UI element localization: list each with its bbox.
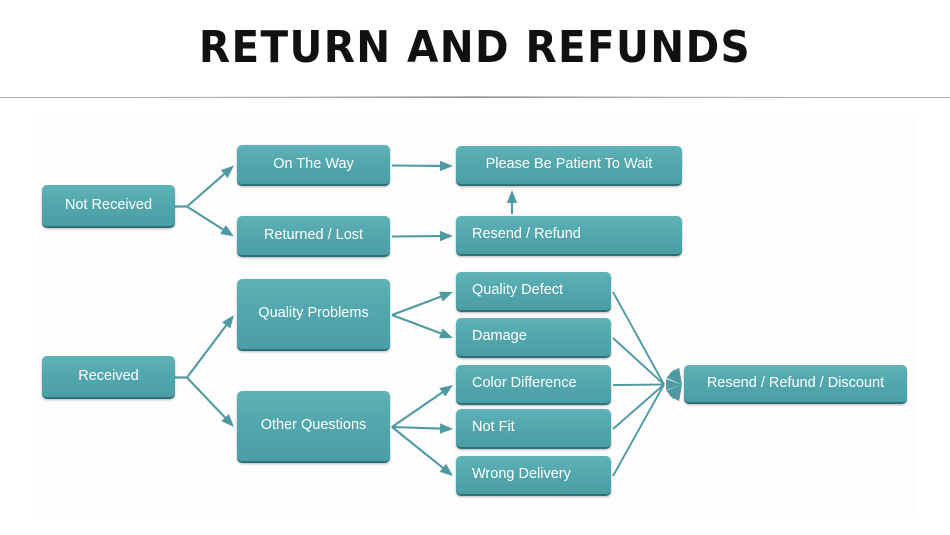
edge-quality_defect-to-resend_refund_discount-line xyxy=(613,292,664,385)
edge-not_fit-to-resend_refund_discount-line xyxy=(613,385,664,430)
node-label: Color Difference xyxy=(472,376,577,392)
header-band: RETURN AND REFUNDS xyxy=(0,0,950,98)
node-color_diff[interactable]: Color Difference xyxy=(456,365,611,405)
edge-other_questions-to-color_diff-arrowhead xyxy=(439,385,453,397)
node-returned_lost[interactable]: Returned / Lost xyxy=(237,216,390,257)
node-damage[interactable]: Damage xyxy=(456,318,611,358)
node-label: Not Fit xyxy=(472,420,515,436)
node-wrong_delivery[interactable]: Wrong Delivery xyxy=(456,456,611,496)
node-label: Resend / Refund / Discount xyxy=(707,376,884,392)
edge-other_questions-to-not_fit-line xyxy=(392,427,440,429)
edge-quality_probs-to-damage-arrowhead xyxy=(439,329,453,339)
flowchart-canvas: Not ReceivedOn The WayReturned / LostPle… xyxy=(0,98,950,535)
node-label: Other Questions xyxy=(261,418,367,434)
node-quality_defect[interactable]: Quality Defect xyxy=(456,272,611,312)
node-other_questions[interactable]: Other Questions xyxy=(237,391,390,463)
node-label: Resend / Refund xyxy=(472,227,581,243)
edge-other_questions-to-not_fit-arrowhead xyxy=(440,423,453,433)
edge-resend_refund-to-be_patient-arrowhead xyxy=(507,190,517,203)
edge-wrong_delivery-to-resend_refund_discount-line xyxy=(613,385,664,477)
edge-received-to-quality_probs-line xyxy=(187,325,226,377)
node-quality_probs[interactable]: Quality Problems xyxy=(237,279,390,351)
node-on_the_way[interactable]: On The Way xyxy=(237,145,390,186)
edge-damage-to-resend_refund_discount-line xyxy=(613,338,664,385)
node-label: Returned / Lost xyxy=(264,228,363,244)
node-label: Not Received xyxy=(65,198,152,214)
node-label: Quality Defect xyxy=(472,283,563,299)
node-not_fit[interactable]: Not Fit xyxy=(456,409,611,449)
node-received[interactable]: Received xyxy=(42,356,175,399)
node-label: On The Way xyxy=(273,157,354,173)
node-not_received[interactable]: Not Received xyxy=(42,185,175,228)
edge-other_questions-to-color_diff-line xyxy=(392,392,442,427)
edge-quality_probs-to-damage-line xyxy=(392,315,441,333)
node-label: Please Be Patient To Wait xyxy=(486,157,653,173)
node-label: Wrong Delivery xyxy=(472,467,571,483)
edge-on_the_way-to-be_patient-arrowhead xyxy=(440,161,453,171)
node-resend_refund_discount[interactable]: Resend / Refund / Discount xyxy=(684,365,907,404)
page-title: RETURN AND REFUNDS xyxy=(38,22,912,73)
edge-received-to-other_questions-line xyxy=(187,378,225,418)
edge-not_received-to-returned_lost-line xyxy=(187,207,223,230)
edge-quality_probs-to-quality_defect-arrowhead xyxy=(439,292,453,302)
node-resend_refund[interactable]: Resend / Refund xyxy=(456,216,682,256)
node-label: Damage xyxy=(472,329,527,345)
node-label: Received xyxy=(78,369,138,385)
node-be_patient[interactable]: Please Be Patient To Wait xyxy=(456,146,682,186)
edge-quality_probs-to-quality_defect-line xyxy=(392,297,441,315)
edge-received-to-quality_probs-arrowhead xyxy=(222,315,234,329)
edge-returned_lost-to-resend_refund-arrowhead xyxy=(440,231,453,241)
edge-not_received-to-returned_lost-arrowhead xyxy=(220,225,234,236)
node-label: Quality Problems xyxy=(258,306,368,322)
edge-not_received-to-on_the_way-line xyxy=(187,174,224,206)
edge-other_questions-to-wrong_delivery-line xyxy=(392,427,443,468)
edge-color_diff-to-resend_refund_discount-line xyxy=(613,385,664,386)
